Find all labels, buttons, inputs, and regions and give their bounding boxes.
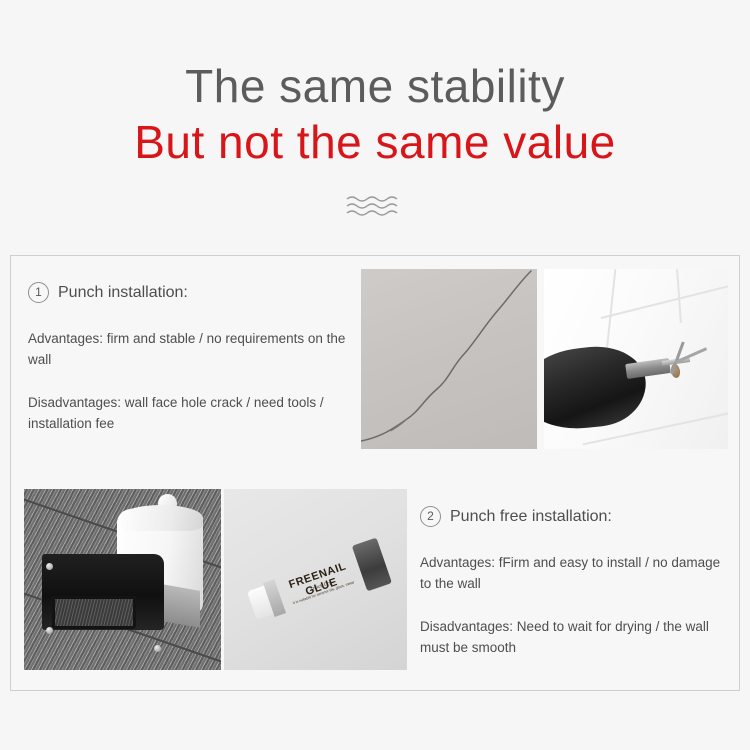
content-panel: 1 Punch installation: Advantages: firm a… [10, 255, 740, 691]
section-number-badge-2: 2 [420, 506, 441, 527]
bracket-screw [154, 645, 161, 652]
bracket-screw [46, 563, 53, 570]
section-2-title: Punch free installation: [450, 508, 612, 526]
bracket-screw [46, 627, 53, 634]
section-1-text: 1 Punch installation: Advantages: firm a… [28, 282, 353, 435]
section-number-badge-1: 1 [28, 282, 49, 303]
black-bracket-holder-photo [24, 489, 221, 670]
wave-divider-icon [345, 167, 405, 219]
page-title-secondary: But not the same value [0, 110, 750, 166]
drill-into-tile-photo [544, 269, 728, 449]
section-2-heading: 2 Punch free installation: [420, 506, 735, 527]
section-2-advantages: Advantages: fFirm and easy to install / … [420, 553, 735, 595]
section-1-disadvantages: Disadvantages: wall face hole crack / ne… [28, 393, 353, 435]
page-title-primary: The same stability [0, 0, 750, 110]
section-1-title: Punch installation: [58, 284, 188, 302]
glue-tube: FREENAIL GLUE Quick Dry It is suitable f… [244, 540, 391, 627]
section-1-advantages: Advantages: firm and stable / no require… [28, 329, 353, 371]
page-header: The same stability But not the same valu… [0, 0, 750, 250]
section-1-heading: 1 Punch installation: [28, 282, 353, 303]
section-2-disadvantages: Disadvantages: Need to wait for drying /… [420, 617, 735, 659]
cracked-wall-photo [361, 269, 537, 449]
freenail-glue-tube-photo: FREENAIL GLUE Quick Dry It is suitable f… [224, 489, 407, 670]
bracket-cutout [52, 596, 136, 629]
pot-lid [119, 505, 203, 531]
section-2-text: 2 Punch free installation: Advantages: f… [420, 506, 735, 659]
